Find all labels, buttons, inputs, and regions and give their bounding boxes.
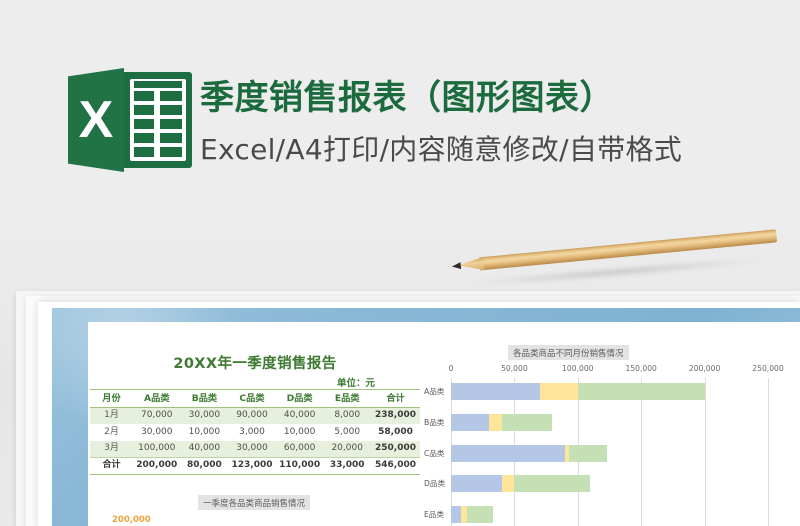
cell-row-total: 58,000 <box>371 424 420 440</box>
table-row: 2月 30,000 10,000 3,000 10,000 5,000 58,0… <box>90 424 420 440</box>
promo-title: 季度销售报表（图形图表） <box>200 70 614 119</box>
col-header-cat-e: E品类 <box>323 390 371 408</box>
cell-value: 30,000 <box>228 441 276 458</box>
cell-value: 10,000 <box>181 424 229 440</box>
promo-subtitle: Excel/A4打印/内容随意修改/自带格式 <box>200 128 682 168</box>
gridline <box>768 378 769 526</box>
chart-title: 各品类商品不同月份销售情况 <box>508 345 629 360</box>
bar-segment <box>514 475 590 492</box>
y-axis-category-label: D品类 <box>424 478 448 489</box>
cell-grand-total: 546,000 <box>371 457 420 474</box>
x-axis-tick-label: 0 <box>449 364 454 373</box>
cell-value: 40,000 <box>181 441 229 458</box>
table-total-row: 合计 200,000 80,000 123,000 110,000 33,000… <box>90 457 420 474</box>
stacked-bar <box>451 414 552 431</box>
stacked-bar <box>451 506 493 523</box>
stacked-bar <box>451 445 607 462</box>
table-body: 1月 70,000 30,000 90,000 40,000 8,000 238… <box>90 407 420 457</box>
cell-col-total: 123,000 <box>228 457 276 474</box>
cell-value: 90,000 <box>228 407 276 424</box>
cell-total-label: 合计 <box>90 457 133 474</box>
bar-segment <box>451 475 502 492</box>
table-row: 3月 100,000 40,000 30,000 60,000 20,000 2… <box>90 441 420 458</box>
cell-value: 20,000 <box>323 441 371 458</box>
cell-row-total: 250,000 <box>371 441 420 458</box>
table-header-row: 月份 A品类 B品类 C品类 D品类 E品类 合计 <box>90 390 420 408</box>
cell-value: 40,000 <box>276 407 324 424</box>
cell-value: 30,000 <box>181 407 229 424</box>
pencil-shadow <box>462 255 772 289</box>
stacked-bar <box>451 475 590 492</box>
cell-row-total: 238,000 <box>371 407 420 424</box>
bar-segment <box>569 445 607 462</box>
sales-table: 月份 A品类 B品类 C品类 D品类 E品类 合计 1月 70,000 30,0… <box>90 389 420 475</box>
y-axis-category-label: A品类 <box>424 386 448 397</box>
cell-value: 30,000 <box>133 424 181 440</box>
cell-col-total: 110,000 <box>276 457 324 474</box>
bar-segment <box>451 414 489 431</box>
col-header-cat-a: A品类 <box>133 390 181 408</box>
bar-segment <box>540 383 578 400</box>
x-axis-tick-label: 100,000 <box>562 364 593 373</box>
bar-segment <box>451 383 540 400</box>
promo-header: X 季度销售报表（图形图表） Excel/A4打印/内容随意修改/自带格式 <box>0 0 800 232</box>
cell-value: 60,000 <box>276 441 324 458</box>
gridline <box>705 378 706 526</box>
cell-value: 8,000 <box>323 407 371 424</box>
cell-value: 3,000 <box>228 424 276 440</box>
x-axis-tick-label: 150,000 <box>625 364 656 373</box>
table-header: 月份 A品类 B品类 C品类 D品类 E品类 合计 <box>90 390 420 408</box>
cell-month: 1月 <box>90 407 133 424</box>
preview-canvas: X 季度销售报表（图形图表） Excel/A4打印/内容随意修改/自带格式 20… <box>0 0 800 526</box>
y-axis-category-label: B品类 <box>424 417 448 428</box>
col-header-cat-d: D品类 <box>276 390 324 408</box>
col-header-cat-c: C品类 <box>228 390 276 408</box>
cell-month: 3月 <box>90 441 133 458</box>
pencil-wood-tip <box>457 257 484 272</box>
cell-value: 100,000 <box>133 441 181 458</box>
col-header-total: 合计 <box>371 390 420 408</box>
bottom-chart-axis-tick: 200,000 <box>112 515 151 525</box>
bar-segment <box>578 383 705 400</box>
bar-segment <box>451 445 565 462</box>
col-header-cat-b: B品类 <box>181 390 229 408</box>
bottom-chart-title: 一季度各品类商品销售情况 <box>198 495 310 510</box>
excel-logo-letter: X <box>68 68 124 172</box>
pencil-lead-tip <box>452 262 462 270</box>
cell-month: 2月 <box>90 424 133 440</box>
excel-grid-sheet <box>130 79 186 161</box>
bar-segment <box>467 506 492 523</box>
table-footer: 合计 200,000 80,000 123,000 110,000 33,000… <box>90 457 420 474</box>
bar-segment <box>502 414 553 431</box>
x-axis-tick-label: 50,000 <box>501 364 528 373</box>
cell-value: 10,000 <box>276 424 324 440</box>
stacked-bar <box>451 383 705 400</box>
cell-col-total: 200,000 <box>133 457 181 474</box>
y-axis-category-label: C品类 <box>424 448 448 459</box>
y-axis-category-label: E品类 <box>424 509 448 520</box>
cell-value: 5,000 <box>323 424 371 440</box>
cell-col-total: 80,000 <box>181 457 229 474</box>
cell-col-total: 33,000 <box>323 457 371 474</box>
x-axis-tick-label: 250,000 <box>752 364 783 373</box>
bar-segment <box>451 506 461 523</box>
excel-logo-icon: X <box>68 68 192 172</box>
table-row: 1月 70,000 30,000 90,000 40,000 8,000 238… <box>90 407 420 424</box>
unit-label: 单位：元 <box>337 375 375 389</box>
report-title: 20XX年一季度销售报告 <box>95 352 415 373</box>
category-month-bar-chart: 各品类商品不同月份销售情况 050,000100,000150,000200,0… <box>424 345 784 526</box>
cell-value: 70,000 <box>133 407 181 424</box>
x-axis-tick-label: 200,000 <box>689 364 720 373</box>
bar-segment <box>489 414 502 431</box>
bar-segment <box>502 475 515 492</box>
col-header-month: 月份 <box>90 390 133 408</box>
gridline <box>641 378 642 526</box>
